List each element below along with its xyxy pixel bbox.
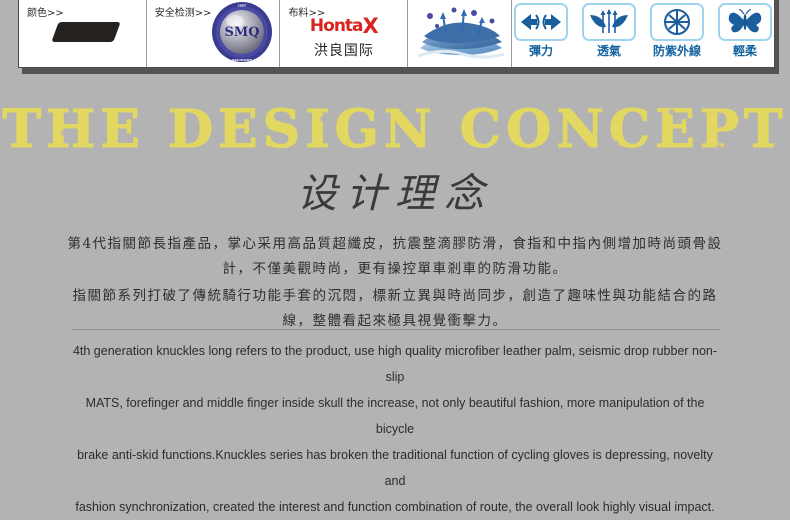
spec-cell-safety: 安全检测>> CERT ASSURANCE SMQ <box>147 0 281 67</box>
feature-label-breathable: 透氣 <box>580 42 638 59</box>
spec-bar-container: 颜色>> 安全检测>> CERT ASS <box>0 0 790 82</box>
breathable-fabric-layers-image <box>412 4 508 64</box>
spec-cell-fabric: 布料>> HontaX 洪良国际 <box>280 0 408 67</box>
spec-bar: 颜色>> 安全检测>> CERT ASS <box>18 0 775 68</box>
svg-text:SMQ: SMQ <box>225 25 260 40</box>
spec-cell-features: 彈力 <box>512 0 774 67</box>
butterfly-soft-icon <box>727 9 763 35</box>
hontax-brand-logo: HontaX 洪良国际 <box>280 16 407 60</box>
stretch-icon-frame <box>514 3 568 41</box>
spec-label-color: 颜色>> <box>27 4 64 19</box>
chinese-paragraph-1: 第4代指關節長指產品，掌心采用高品質超纖皮，抗震整滴膠防滑，食指和中指內側增加時… <box>60 232 730 282</box>
english-line-3: brake anti-skid functions.Knuckles serie… <box>65 442 725 494</box>
svg-text:CERT: CERT <box>238 4 247 8</box>
english-description: 4th generation knuckles long refers to t… <box>65 338 725 520</box>
design-concept-section: THE DESIGN CONCEPT 设计理念 第4代指關節長指產品，掌心采用高… <box>0 82 790 444</box>
color-swatch-icon <box>51 22 120 42</box>
page-title-english: THE DESIGN CONCEPT <box>0 104 790 156</box>
hontax-x-mark: X <box>363 14 378 38</box>
section-divider <box>72 329 720 330</box>
feature-label-uv: 防紫外線 <box>648 42 706 59</box>
breathable-icon-frame <box>582 3 636 41</box>
spec-cell-breathable-image <box>408 0 512 67</box>
english-line-2: MATS, forefinger and middle finger insid… <box>65 390 725 442</box>
chinese-description: 第4代指關節長指產品，掌心采用高品質超纖皮，抗震整滴膠防滑，食指和中指內側增加時… <box>60 232 730 334</box>
feature-item-soft[interactable]: 輕柔 <box>716 3 774 59</box>
uv-sun-icon <box>663 8 691 36</box>
hontax-latin: Honta <box>310 16 363 36</box>
stretch-arrows-icon <box>519 10 563 34</box>
feature-label-stretch: 彈力 <box>512 42 570 59</box>
feature-item-stretch[interactable]: 彈力 <box>512 3 570 59</box>
spec-cell-color: 颜色>> <box>19 0 147 67</box>
smq-certification-seal-icon: CERT ASSURANCE SMQ <box>211 1 273 63</box>
feature-label-soft: 輕柔 <box>716 42 774 59</box>
feature-icon-list: 彈力 <box>512 0 774 67</box>
chinese-paragraph-2: 指關節系列打破了傳統騎行功能手套的沉悶，標新立異與時尚同步，創造了趣味性與功能結… <box>60 284 730 334</box>
hontax-chinese-name: 洪良国际 <box>280 40 407 60</box>
uv-icon-frame <box>650 3 704 41</box>
page-title-chinese: 设计理念 <box>0 174 790 214</box>
feature-item-breathable[interactable]: 透氣 <box>580 3 638 59</box>
english-line-1: 4th generation knuckles long refers to t… <box>65 338 725 390</box>
hontax-wordmark: HontaX <box>310 16 378 37</box>
spec-label-safety: 安全检测>> <box>155 4 212 19</box>
feature-item-uv[interactable]: 防紫外線 <box>648 3 706 59</box>
soft-icon-frame <box>718 3 772 41</box>
breathable-wings-icon <box>588 9 630 35</box>
english-line-4: fashion synchronization, created the int… <box>65 494 725 520</box>
svg-text:ASSURANCE: ASSURANCE <box>232 58 252 62</box>
